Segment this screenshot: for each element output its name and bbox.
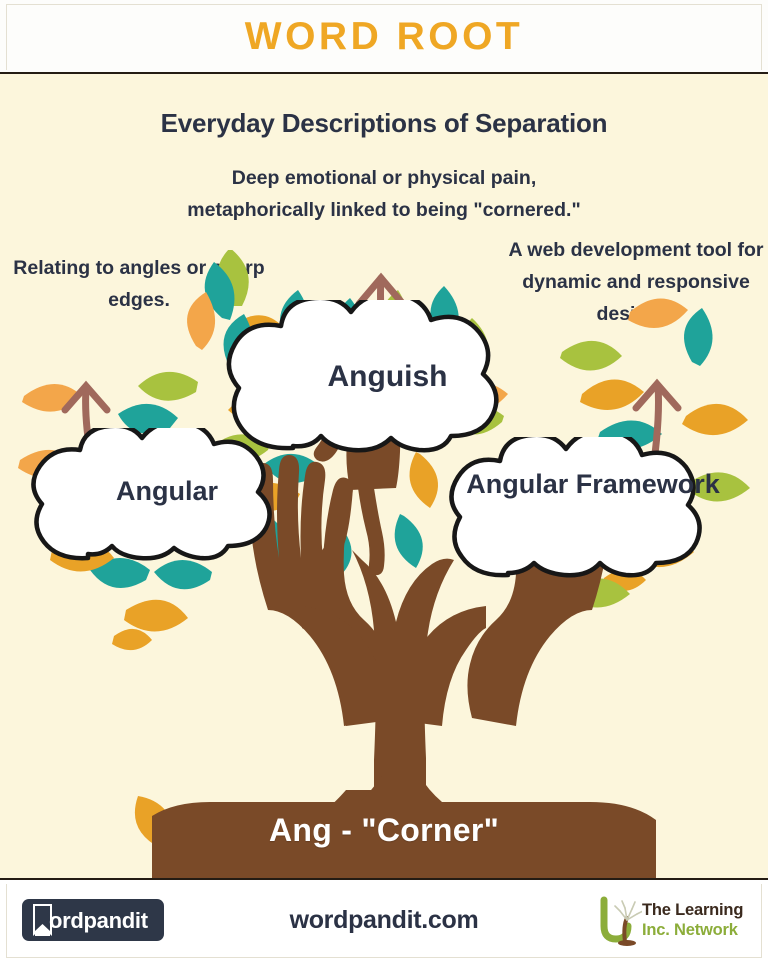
cloud-label-anguish: Anguish — [215, 360, 560, 394]
partner-logo-line2: Inc. Network — [642, 920, 743, 940]
cloud-angular[interactable]: Angular — [22, 428, 312, 573]
page-title: WORD ROOT — [245, 17, 523, 56]
partner-logo-line1: The Learning — [642, 900, 743, 920]
infographic-poster: WORD ROOT Everyday Descriptions of Separ… — [0, 0, 768, 960]
cloud-shape-framework — [438, 437, 748, 592]
cloud-angular-framework[interactable]: Angular Framework — [438, 437, 748, 592]
tree-u-icon — [598, 896, 642, 946]
root-label: Ang - "Corner" — [0, 812, 768, 849]
cloud-label-angular: Angular — [22, 476, 312, 506]
the-learning-network-logo-text: The Learning Inc. Network — [642, 900, 743, 940]
the-learning-network-logo[interactable]: The Learning Inc. Network — [598, 896, 750, 946]
description-center: Deep emotional or physical pain, metapho… — [180, 162, 588, 226]
cloud-label-framework: Angular Framework — [438, 469, 748, 499]
footer-bar: ordpandit wordpandit.com The Learning In… — [0, 878, 768, 960]
header-bar: WORD ROOT — [0, 0, 768, 74]
subtitle: Everyday Descriptions of Separation — [0, 108, 768, 139]
